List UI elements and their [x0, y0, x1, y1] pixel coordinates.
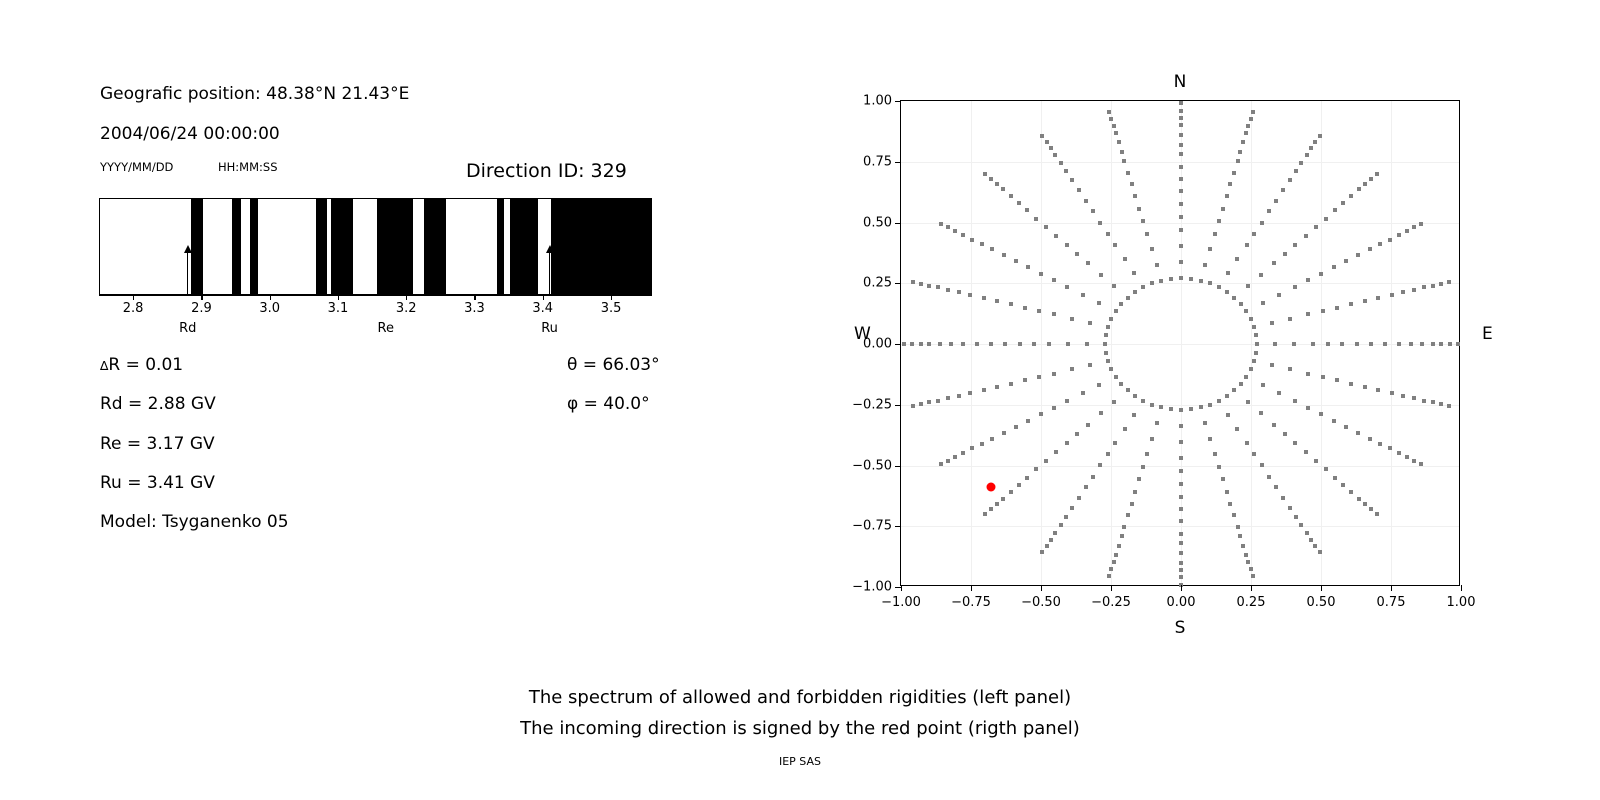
direction-point — [1277, 391, 1281, 395]
direction-point — [1226, 413, 1230, 417]
direction-point — [1070, 178, 1074, 182]
direction-point — [1306, 278, 1310, 282]
direction-point — [1420, 342, 1424, 346]
axis-tick-label: 3.1 — [328, 301, 349, 316]
direction-point — [1405, 229, 1409, 233]
direction-point — [982, 388, 986, 392]
direction-point — [982, 296, 986, 300]
direction-point — [1363, 182, 1367, 186]
direction-point — [1179, 568, 1183, 572]
direction-point — [1097, 301, 1101, 305]
date-format-hint: YYYY/MM/DD — [100, 160, 173, 174]
param-re: Re = 3.17 GV — [100, 434, 215, 454]
direction-point — [1114, 553, 1118, 557]
direction-point — [1456, 342, 1460, 346]
direction-point — [1235, 427, 1239, 431]
direction-point — [938, 342, 942, 346]
direction-point — [1363, 502, 1367, 506]
direction-point — [1133, 490, 1137, 494]
forbidden-band — [331, 199, 353, 294]
direction-point — [1254, 333, 1258, 337]
direction-point — [1293, 285, 1297, 289]
direction-point — [1179, 123, 1183, 127]
direction-point — [1179, 116, 1183, 120]
direction-point — [1179, 202, 1183, 206]
direction-point — [1039, 272, 1043, 276]
direction-point — [1009, 490, 1013, 494]
direction-point — [911, 280, 915, 284]
direction-point — [1252, 452, 1256, 456]
direction-point — [1368, 247, 1372, 251]
direction-point — [1293, 243, 1297, 247]
direction-point — [1002, 431, 1006, 435]
direction-point — [1014, 259, 1018, 263]
y-axis-tick — [895, 405, 901, 406]
direction-point — [1378, 442, 1382, 446]
direction-point — [1236, 525, 1240, 529]
direction-point — [1133, 394, 1137, 398]
direction-point — [989, 507, 993, 511]
time-format-hint: HH:MM:SS — [218, 160, 278, 174]
direction-point — [1052, 312, 1056, 316]
param-model: Model: Tsyganenko 05 — [100, 512, 289, 532]
direction-point — [1203, 263, 1207, 267]
compass-south-label: S — [1175, 618, 1186, 638]
direction-point — [1133, 194, 1137, 198]
direction-point — [1150, 247, 1154, 251]
direction-scatter-plot: −1.00−0.75−0.50−0.250.000.250.500.751.00… — [900, 100, 1460, 586]
y-axis-tick — [895, 283, 901, 284]
direction-point — [1179, 532, 1183, 536]
direction-point — [957, 394, 961, 398]
direction-point — [1109, 567, 1113, 571]
direction-point — [1064, 515, 1068, 519]
direction-point — [1293, 441, 1297, 445]
direction-point — [1272, 261, 1276, 265]
direction-point — [1293, 399, 1297, 403]
direction-point — [1179, 469, 1183, 473]
y-axis-tick-label: 0.50 — [863, 215, 892, 230]
direction-point — [949, 342, 953, 346]
direction-point — [983, 172, 987, 176]
direction-point — [927, 400, 931, 404]
y-axis-tick-label: 0.75 — [863, 154, 892, 169]
direction-point — [1107, 110, 1111, 114]
direction-point — [1397, 233, 1401, 237]
direction-point — [953, 455, 957, 459]
direction-point — [1070, 367, 1074, 371]
rigidity-spectrum-bar — [99, 198, 652, 295]
direction-point — [1232, 513, 1236, 517]
axis-tick-label: 3.5 — [601, 301, 622, 316]
direction-point — [1088, 321, 1092, 325]
direction-point — [975, 342, 979, 346]
direction-point — [1034, 217, 1038, 221]
direction-point — [990, 247, 994, 251]
direction-point — [1141, 219, 1145, 223]
direction-point — [1141, 285, 1145, 289]
forbidden-band — [551, 199, 652, 294]
direction-point — [939, 462, 943, 466]
direction-point — [1179, 109, 1183, 113]
gridline-vertical — [1321, 101, 1322, 585]
direction-point — [927, 342, 931, 346]
direction-point — [910, 342, 914, 346]
param-phi: φ = 40.0° — [567, 394, 650, 414]
direction-point — [1179, 551, 1183, 555]
marker-arrow-icon — [382, 245, 390, 253]
direction-point — [983, 512, 987, 516]
y-axis-tick-label: −0.25 — [852, 397, 892, 412]
direction-point — [1272, 423, 1276, 427]
direction-point — [1225, 194, 1229, 198]
direction-point — [1313, 140, 1317, 144]
direction-point — [990, 437, 994, 441]
axis-line — [99, 295, 652, 296]
axis-tick — [406, 295, 407, 300]
direction-point — [1232, 171, 1236, 175]
direction-point — [1213, 452, 1217, 456]
direction-point — [1333, 476, 1337, 480]
direction-point — [968, 293, 972, 297]
direction-point — [1267, 475, 1271, 479]
direction-point — [1039, 412, 1043, 416]
direction-point — [968, 391, 972, 395]
direction-point — [1106, 359, 1110, 363]
direction-point — [1369, 507, 1373, 511]
direction-point — [939, 222, 943, 226]
direction-point — [1261, 383, 1265, 387]
direction-point — [919, 282, 923, 286]
direction-point — [1179, 189, 1183, 193]
direction-point — [1244, 309, 1248, 313]
direction-point — [1098, 463, 1102, 467]
direction-point — [1179, 575, 1183, 579]
direction-point — [1431, 342, 1435, 346]
marker-shaft — [549, 251, 550, 295]
direction-point — [1349, 302, 1353, 306]
direction-point — [1368, 437, 1372, 441]
x-axis-tick — [1041, 585, 1042, 591]
direction-point — [1126, 388, 1130, 392]
direction-point — [1112, 560, 1116, 564]
direction-point — [1169, 277, 1173, 281]
direction-point — [1217, 285, 1221, 289]
direction-point — [1123, 257, 1127, 261]
direction-point — [989, 177, 993, 181]
direction-point — [1306, 372, 1310, 376]
direction-point — [980, 442, 984, 446]
direction-point — [1099, 273, 1103, 277]
direction-point — [1052, 372, 1056, 376]
forbidden-band — [191, 199, 203, 294]
direction-point — [1369, 177, 1373, 181]
direction-point — [1252, 359, 1256, 363]
direction-point — [1179, 440, 1183, 444]
direction-point — [1049, 146, 1053, 150]
forbidden-band — [424, 199, 446, 294]
direction-point — [946, 396, 950, 400]
direction-point — [1239, 382, 1243, 386]
direction-point — [1341, 201, 1345, 205]
direction-point — [1281, 188, 1285, 192]
direction-point — [1179, 507, 1183, 511]
direction-point — [1053, 531, 1057, 535]
direction-point — [1088, 363, 1092, 367]
direction-point — [1249, 117, 1253, 121]
y-axis-tick — [895, 223, 901, 224]
compass-north-label: N — [1174, 72, 1187, 92]
direction-point — [1221, 477, 1225, 481]
direction-point — [1309, 146, 1313, 150]
axis-tick — [474, 295, 475, 300]
y-axis-tick-label: −1.00 — [852, 580, 892, 595]
direction-point — [1252, 325, 1256, 329]
direction-point — [1324, 217, 1328, 221]
direction-point — [1340, 342, 1344, 346]
x-axis-tick-label: 1.00 — [1447, 595, 1476, 610]
direction-point — [1040, 134, 1044, 138]
direction-point — [1054, 234, 1058, 238]
direction-point — [1321, 375, 1325, 379]
direction-point — [1141, 399, 1145, 403]
direction-point — [1228, 182, 1232, 186]
gridline-vertical — [1251, 101, 1252, 585]
param-delta-r: ∆R = 0.01 — [100, 355, 183, 375]
direction-point — [1159, 405, 1163, 409]
direction-point — [1304, 234, 1308, 238]
gridline-horizontal — [901, 526, 1459, 527]
direction-point — [1306, 312, 1310, 316]
direction-point — [1341, 483, 1345, 487]
direction-point — [1288, 317, 1292, 321]
direction-point — [1375, 512, 1379, 516]
incoming-direction-point[interactable] — [986, 483, 995, 492]
direction-point — [1141, 465, 1145, 469]
gridline-horizontal — [901, 405, 1459, 406]
direction-point — [1383, 342, 1387, 346]
direction-point — [946, 288, 950, 292]
direction-point — [1084, 199, 1088, 203]
gridline-horizontal — [901, 162, 1459, 163]
direction-point — [1001, 187, 1005, 191]
direction-point — [1255, 342, 1259, 346]
caption-line-2: The incoming direction is signed by the … — [0, 718, 1600, 739]
x-axis-tick — [1391, 585, 1392, 591]
y-axis-tick-label: 1.00 — [863, 94, 892, 109]
direction-point — [1319, 272, 1323, 276]
direction-point — [1179, 101, 1183, 105]
direction-point — [1179, 482, 1183, 486]
param-ru: Ru = 3.41 GV — [100, 473, 215, 493]
direction-point — [1059, 523, 1063, 527]
direction-point — [1137, 207, 1141, 211]
direction-point — [1034, 467, 1038, 471]
gridline-horizontal — [901, 283, 1459, 284]
direction-point — [1390, 293, 1394, 297]
forbidden-band — [316, 199, 327, 294]
direction-point — [1447, 280, 1451, 284]
direction-point — [1098, 221, 1102, 225]
direction-point — [1045, 140, 1049, 144]
direction-point — [1419, 222, 1423, 226]
forbidden-band — [497, 199, 505, 294]
direction-point — [1106, 232, 1110, 236]
x-axis-tick-label: −1.00 — [881, 595, 921, 610]
direction-point — [911, 404, 915, 408]
direction-point — [1376, 296, 1380, 300]
direction-point — [1126, 171, 1130, 175]
direction-point — [989, 342, 993, 346]
direction-point — [1314, 225, 1318, 229]
x-axis-tick-label: 0.25 — [1237, 595, 1266, 610]
direction-point — [1026, 419, 1030, 423]
direction-point — [1150, 403, 1154, 407]
marker-label: Re — [378, 321, 394, 336]
direction-point — [1357, 497, 1361, 501]
forbidden-band — [510, 199, 539, 294]
direction-point — [1232, 388, 1236, 392]
direction-point — [1009, 382, 1013, 386]
direction-point — [1313, 544, 1317, 548]
direction-point — [1085, 342, 1089, 346]
direction-point — [995, 182, 999, 186]
axis-tick-label: 3.2 — [396, 301, 417, 316]
direction-point — [1179, 215, 1183, 219]
direction-point — [1235, 257, 1239, 261]
direction-point — [1001, 497, 1005, 501]
direction-point — [1236, 159, 1240, 163]
direction-point — [1023, 306, 1027, 310]
direction-point — [1259, 411, 1263, 415]
direction-point — [1145, 232, 1149, 236]
direction-point — [1260, 221, 1264, 225]
direction-point — [1326, 342, 1330, 346]
direction-point — [1112, 284, 1116, 288]
direction-point — [1294, 515, 1298, 519]
direction-point — [1017, 483, 1021, 487]
direction-point — [1349, 194, 1353, 198]
y-axis-tick — [895, 101, 901, 102]
x-axis-tick — [971, 585, 972, 591]
axis-tick — [338, 295, 339, 300]
direction-point — [1091, 475, 1095, 479]
direction-point — [1259, 273, 1263, 277]
gridline-horizontal — [901, 223, 1459, 224]
direction-point — [1117, 544, 1121, 548]
direction-point — [1053, 153, 1057, 157]
direction-point — [1252, 232, 1256, 236]
direction-point — [1014, 425, 1018, 429]
direction-point — [1155, 421, 1159, 425]
direction-point — [1355, 342, 1359, 346]
direction-point — [1321, 309, 1325, 313]
direction-point — [1208, 247, 1212, 251]
x-axis-tick-label: −0.25 — [1091, 595, 1131, 610]
direction-point — [1070, 506, 1074, 510]
gridline-vertical — [1111, 101, 1112, 585]
direction-point — [1126, 296, 1130, 300]
direction-point — [1246, 560, 1250, 564]
direction-point — [1412, 288, 1416, 292]
gridline-vertical — [971, 101, 972, 585]
x-axis-tick — [1321, 585, 1322, 591]
direction-point — [1246, 124, 1250, 128]
direction-point — [1249, 317, 1253, 321]
direction-point — [919, 402, 923, 406]
direction-point — [1009, 302, 1013, 306]
geographic-position-label: Geografic position: 48.38°N 21.43°E — [100, 84, 409, 104]
direction-point — [1040, 550, 1044, 554]
direction-point — [1244, 553, 1248, 557]
direction-point — [919, 342, 923, 346]
axis-tick-label: 3.4 — [532, 301, 553, 316]
direction-point — [1228, 502, 1232, 506]
direction-point — [1122, 159, 1126, 163]
direction-point — [1084, 485, 1088, 489]
datetime-label: 2004/06/24 00:00:00 — [100, 124, 280, 144]
direction-point — [1065, 441, 1069, 445]
direction-point — [902, 342, 906, 346]
direction-point — [970, 238, 974, 242]
y-axis-tick — [895, 466, 901, 467]
direction-point — [1311, 342, 1315, 346]
direction-point — [1126, 513, 1130, 517]
direction-point — [1225, 394, 1229, 398]
direction-point — [1208, 281, 1212, 285]
direction-point — [1241, 544, 1245, 548]
direction-point — [1217, 465, 1221, 469]
direction-point — [1217, 219, 1221, 223]
direction-point — [1025, 476, 1029, 480]
direction-point — [1119, 382, 1123, 386]
direction-point — [1274, 199, 1278, 203]
direction-point — [970, 446, 974, 450]
compass-east-label: E — [1482, 324, 1493, 344]
direction-point — [1363, 385, 1367, 389]
direction-point — [1086, 423, 1090, 427]
direction-point — [1099, 411, 1103, 415]
direction-point — [1179, 260, 1183, 264]
direction-point — [1306, 406, 1310, 410]
direction-point — [1032, 342, 1036, 346]
direction-point — [1025, 208, 1029, 212]
direction-point — [1244, 375, 1248, 379]
direction-point — [1065, 243, 1069, 247]
direction-point — [1294, 169, 1298, 173]
direction-point — [1375, 172, 1379, 176]
x-axis-tick-label: −0.75 — [951, 595, 991, 610]
direction-point — [1213, 232, 1217, 236]
direction-point — [1431, 400, 1435, 404]
direction-point — [1123, 427, 1127, 431]
direction-point — [1318, 550, 1322, 554]
direction-point — [1221, 207, 1225, 211]
direction-point — [1117, 140, 1121, 144]
direction-point — [1179, 143, 1183, 147]
direction-point — [1439, 342, 1443, 346]
direction-point — [1324, 467, 1328, 471]
direction-point — [1246, 284, 1250, 288]
direction-point — [1026, 265, 1030, 269]
direction-point — [1189, 277, 1193, 281]
direction-point — [1199, 405, 1203, 409]
direction-point — [1251, 574, 1255, 578]
direction-point — [1097, 383, 1101, 387]
y-axis-tick-label: 0.25 — [863, 276, 892, 291]
gridline-horizontal — [901, 344, 1459, 345]
direction-point — [1292, 342, 1296, 346]
